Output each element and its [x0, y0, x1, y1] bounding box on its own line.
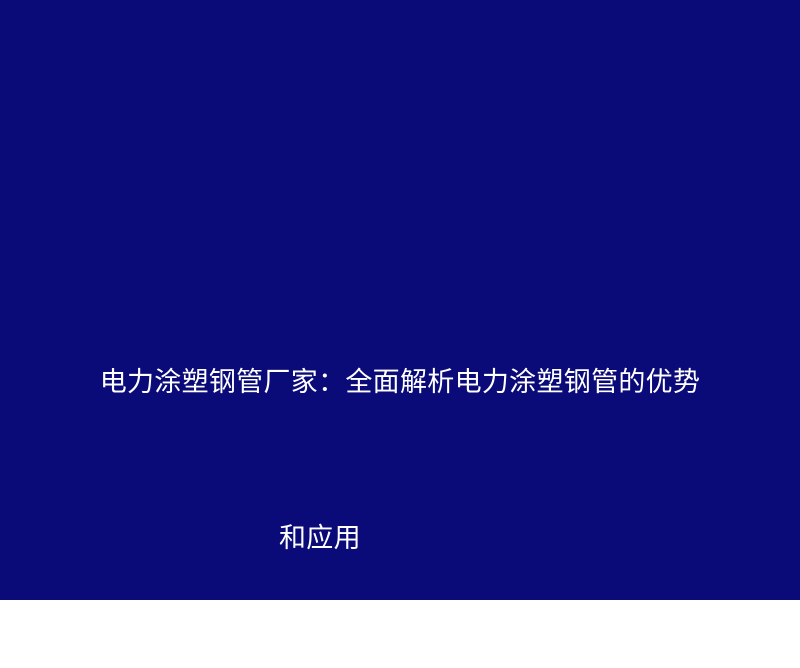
title-banner: 电力涂塑钢管厂家：全面解析电力涂塑钢管的优势 和应用	[0, 0, 800, 600]
page-title-line-2: 和应用	[0, 512, 800, 564]
page-title: 电力涂塑钢管厂家：全面解析电力涂塑钢管的优势 和应用	[0, 252, 800, 668]
page-title-line-1: 电力涂塑钢管厂家：全面解析电力涂塑钢管的优势	[0, 356, 800, 408]
